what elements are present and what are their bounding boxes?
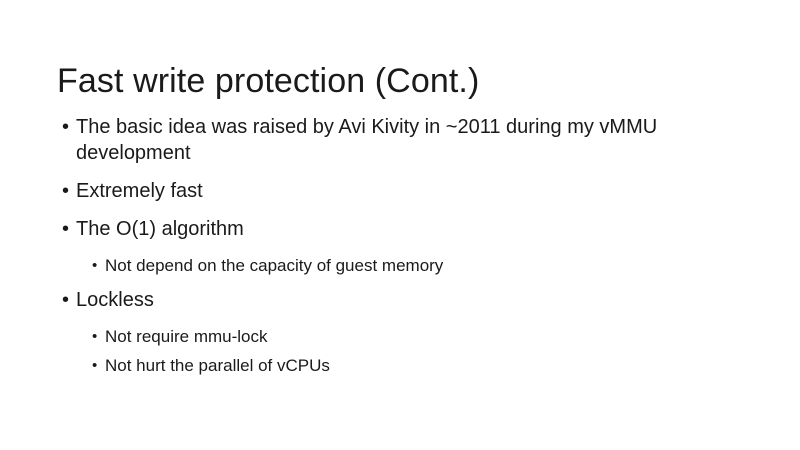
bullet-marker-icon: •	[92, 354, 105, 377]
bullet-marker-icon: •	[62, 287, 76, 313]
bullet-marker-icon: •	[62, 114, 76, 140]
sub-bullet-item: • Not depend on the capacity of guest me…	[60, 254, 760, 277]
bullet-item: • The basic idea was raised by Avi Kivit…	[60, 114, 760, 166]
sub-bullet-group: • Not require mmu-lock • Not hurt the pa…	[60, 325, 760, 377]
bullet-text: Extremely fast	[76, 178, 721, 204]
bullet-marker-icon: •	[92, 325, 105, 348]
bullet-item: • Lockless	[60, 287, 760, 313]
sub-bullet-text: Not hurt the parallel of vCPUs	[105, 354, 760, 377]
bullet-item: • The O(1) algorithm	[60, 216, 760, 242]
sub-bullet-text: Not depend on the capacity of guest memo…	[105, 254, 760, 277]
presentation-slide: Fast write protection (Cont.) • The basi…	[0, 0, 800, 450]
sub-bullet-item: • Not hurt the parallel of vCPUs	[60, 354, 760, 377]
bullet-marker-icon: •	[62, 216, 76, 242]
bullet-text: The basic idea was raised by Avi Kivity …	[76, 114, 721, 166]
bullet-text: The O(1) algorithm	[76, 216, 721, 242]
bullet-item: • Extremely fast	[60, 178, 760, 204]
slide-title: Fast write protection (Cont.)	[57, 61, 757, 101]
sub-bullet-text: Not require mmu-lock	[105, 325, 760, 348]
bullet-marker-icon: •	[92, 254, 105, 277]
sub-bullet-group: • Not depend on the capacity of guest me…	[60, 254, 760, 277]
slide-body-content: • The basic idea was raised by Avi Kivit…	[60, 114, 760, 387]
bullet-text: Lockless	[76, 287, 721, 313]
sub-bullet-item: • Not require mmu-lock	[60, 325, 760, 348]
bullet-marker-icon: •	[62, 178, 76, 204]
